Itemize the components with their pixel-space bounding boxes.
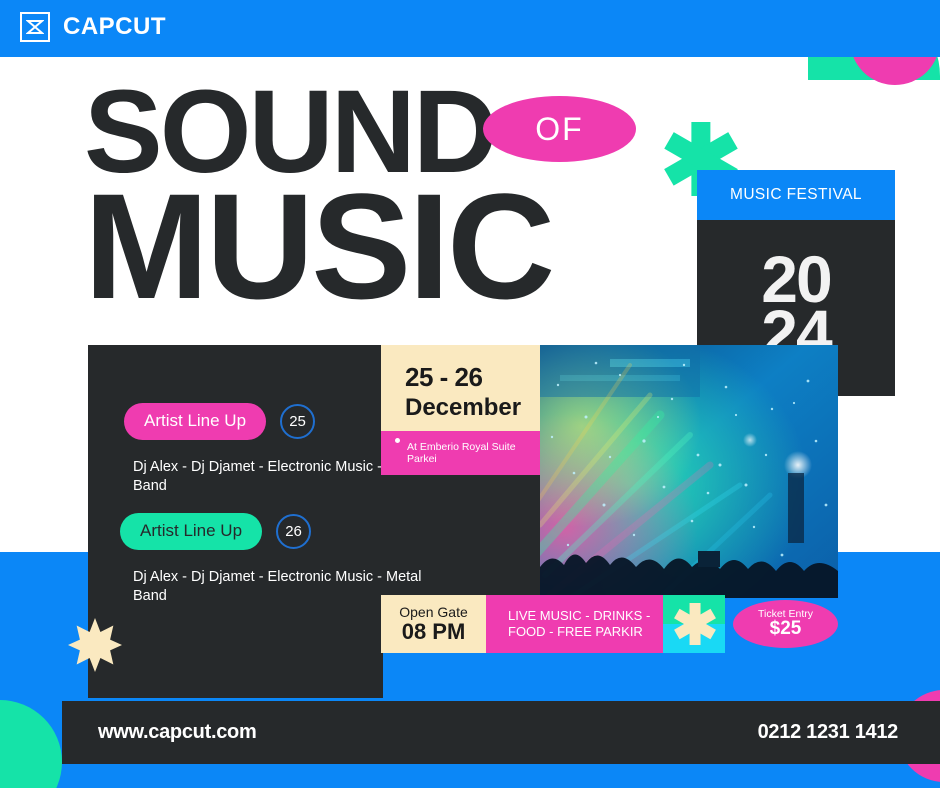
festival-label-bar: MUSIC FESTIVAL: [697, 170, 895, 220]
event-days: 25 - 26: [405, 362, 540, 393]
bullet-icon: [395, 438, 400, 443]
of-badge-label: OF: [535, 111, 583, 148]
ticket-entry-price: $25: [770, 618, 802, 640]
footer-phone: 0212 1231 1412: [758, 721, 898, 744]
open-gate-label: Open Gate: [399, 604, 468, 620]
date-card: 25 - 26 December At Emberio Royal Suite …: [381, 345, 540, 475]
artist-lineup-pill-1: Artist Line Up: [124, 403, 266, 440]
concert-stage-lights-photo: [540, 345, 838, 598]
festival-label: MUSIC FESTIVAL: [730, 186, 862, 204]
star-burst-icon: [68, 618, 122, 672]
venue-text: At Emberio Royal Suite Parkei: [407, 441, 530, 465]
capcut-hourglass-icon: [20, 12, 50, 42]
ticket-price-badge: Ticket Entry $25: [733, 600, 838, 648]
open-gate-block: Open Gate 08 PM: [381, 595, 486, 653]
date-card-top: 25 - 26 December: [381, 345, 540, 431]
day-badge-26: 26: [276, 514, 311, 549]
lineup-row: Artist Line Up 25: [124, 403, 315, 440]
capcut-wordmark: CAPCUT: [63, 13, 166, 41]
footer-website[interactable]: www.capcut.com: [98, 721, 256, 744]
lineup-row: Artist Line Up 26: [120, 513, 311, 550]
day-badge-25: 25: [280, 404, 315, 439]
event-info-strip: Open Gate 08 PM LIVE MUSIC - DRINKS - FO…: [381, 595, 725, 653]
open-gate-time: 08 PM: [402, 619, 466, 645]
artist-lineup-pill-2: Artist Line Up: [120, 513, 262, 550]
live-amenities-block: LIVE MUSIC - DRINKS - FOOD - FREE PARKIR: [486, 595, 663, 653]
event-month: December: [405, 394, 540, 422]
artist-panel-extension: [88, 605, 383, 698]
headline-line-music: MUSIC: [84, 177, 704, 315]
of-badge: OF: [483, 96, 636, 162]
asterisk-block: [663, 595, 725, 653]
poster-canvas: CAPCUT SOUND MUSIC OF MUSIC FESTIVAL 20 …: [0, 0, 940, 788]
capcut-brand: CAPCUT: [20, 12, 166, 42]
venue-bar: At Emberio Royal Suite Parkei: [381, 431, 540, 475]
asterisk-icon: [674, 603, 716, 645]
live-amenities-text: LIVE MUSIC - DRINKS - FOOD - FREE PARKIR: [508, 608, 663, 641]
footer-bar: www.capcut.com 0212 1231 1412: [62, 701, 940, 764]
